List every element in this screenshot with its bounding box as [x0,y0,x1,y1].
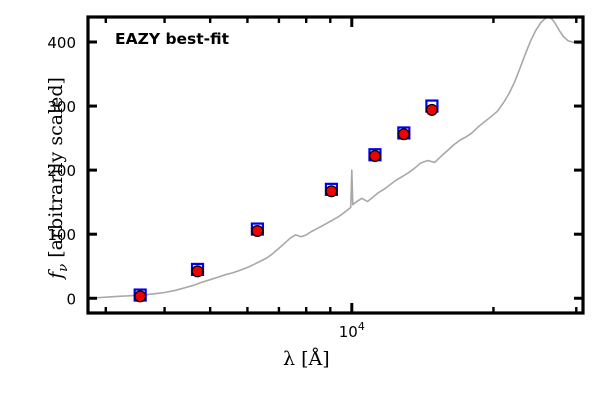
y-axis-tick-label: 100 [47,226,76,244]
eazy-best-fit-annotation: EAZY best-fit [115,30,229,48]
observed-photometry-point [192,266,203,277]
observed-photometry-point [427,105,438,116]
observed-photometry-point [252,226,263,237]
y-axis-tick-label: 0 [66,290,76,308]
observed-photometry-point [398,129,409,140]
observed-photometry-point [370,151,381,162]
figure-canvas: 0100200300400104 EAZY best-fit λ [Å] fν … [0,0,600,400]
figure-background [0,0,600,400]
annotation-text: EAZY best-fit [115,30,229,48]
y-axis-tick-label: 400 [47,34,76,52]
observed-photometry-point [135,291,146,302]
observed-photometry-point [326,186,337,197]
sed-plot: 0100200300400104 [0,0,600,400]
y-axis-tick-label: 300 [47,98,76,116]
y-axis-tick-label: 200 [47,162,76,180]
